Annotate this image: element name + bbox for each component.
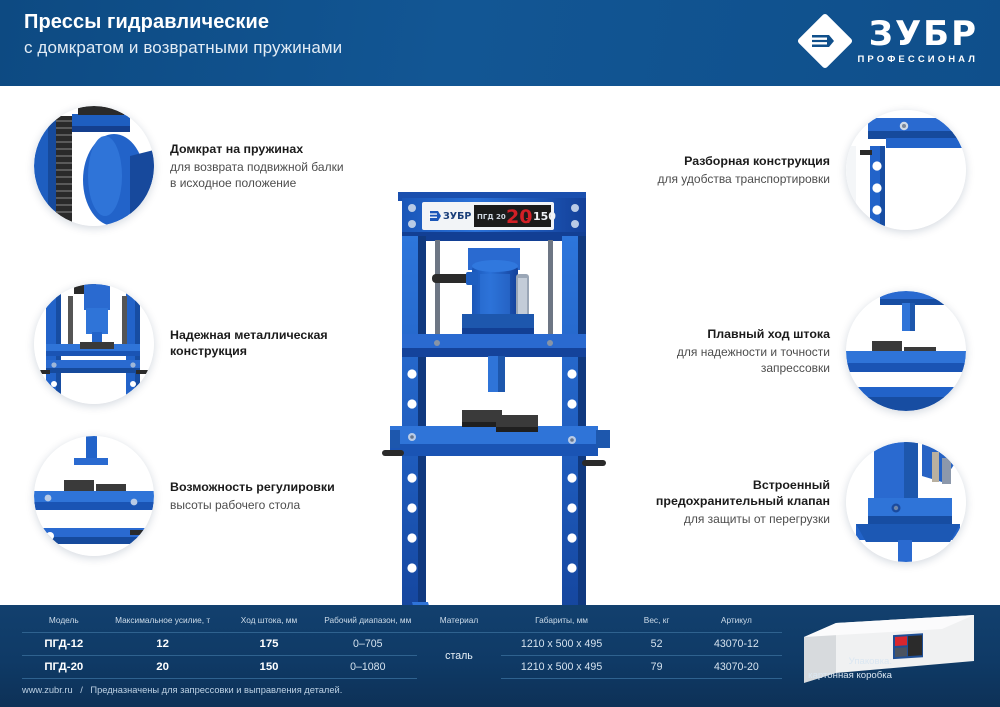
cell-article: 43070-20 [691,656,782,679]
feature-safety-valve: Встроенный предохранительный клапан для … [631,442,966,562]
cell-model: ПГД-12 [22,633,106,656]
smooth-rod-photo [846,291,966,411]
svg-text:т: т [526,216,532,226]
feature-title: Возможность регулировки [170,479,335,495]
zubr-diamond-icon [802,18,848,64]
feature-desc: для возврата подвижной балки в исходное … [170,159,353,192]
feature-jack-springs: Домкрат на пружинах для возврата подвижн… [34,106,369,226]
feature-desc: для защиты от перегрузки [647,511,830,527]
spec-table: Модель Максимальное усилие, т Ход штока,… [22,613,782,679]
cell-dimensions: 1210 x 500 x 495 [501,633,623,656]
infographic-page: Прессы гидравлические с домкратом и возв… [0,0,1000,707]
cell-model: ПГД-20 [22,656,106,679]
feature-title: Разборная конструкция [657,153,830,169]
feature-metal-frame: Надежная металлическая конструкция [34,284,369,404]
packaging-label: Упаковка: картонная коробка [808,655,892,682]
page-title: Прессы гидравлические [24,11,269,34]
cell-force: 12 [106,633,220,656]
packaging-label-line2: картонная коробка [808,669,892,683]
table-height-photo [34,436,154,556]
footer-note: www.zubr.ru / Предназначены для запрессо… [22,685,342,695]
table-header-row: Модель Максимальное усилие, т Ход штока,… [22,613,782,633]
feature-title: Домкрат на пружинах [170,141,353,157]
feature-title: Плавный ход штока [647,326,830,342]
cell-stroke: 150 [220,656,319,679]
feature-table-height: Возможность регулировки высоты рабочего … [34,436,351,556]
feature-title: Надежная металлическая конструкция [170,327,353,359]
feature-demountable: Разборная конструкция для удобства транс… [641,110,966,230]
feature-desc: высоты рабочего стола [170,497,335,513]
packaging-label-line1: Упаковка: [808,655,892,669]
cell-material: сталь [417,633,501,679]
table-row: ПГД-12 12 175 0–705 сталь 1210 x 500 x 4… [22,633,782,656]
col-dimensions: Габариты, мм [501,613,623,633]
brand-logo: ЗУБР ПРОФЕССИОНАЛ [802,17,978,65]
col-range: Рабочий диапазон, мм [318,613,417,633]
spec-footer: Модель Максимальное усилие, т Ход штока,… [0,605,1000,707]
page-header: Прессы гидравлические с домкратом и возв… [0,0,1000,86]
footer-description: Предназначены для запрессовки и выправле… [90,685,342,695]
footer-separator: / [80,685,83,695]
cell-range: 0–705 [318,633,417,656]
col-stroke: Ход штока, мм [220,613,319,633]
cell-article: 43070-12 [691,633,782,656]
cell-range: 0–1080 [318,656,417,679]
brand-tagline: ПРОФЕССИОНАЛ [857,54,978,65]
cell-stroke: 175 [220,633,319,656]
product-image: ЗУБР ПГД 20 20 т 150 [350,178,650,668]
cell-weight: 79 [622,656,690,679]
jack-springs-photo [34,106,154,226]
table-row: ПГД-20 20 150 0–1080 1210 x 500 x 495 79… [22,656,782,679]
svg-text:ПГД 20: ПГД 20 [477,213,506,221]
page-subtitle: с домкратом и возвратными пружинами [24,38,342,58]
svg-text:150: 150 [533,210,556,223]
col-material: Материал [417,613,501,633]
demountable-photo [846,110,966,230]
svg-text:ЗУБР: ЗУБР [443,211,471,222]
metal-frame-photo [34,284,154,404]
safety-valve-photo [846,442,966,562]
col-weight: Вес, кг [622,613,690,633]
cell-dimensions: 1210 x 500 x 495 [501,656,623,679]
col-article: Артикул [691,613,782,633]
website-link[interactable]: www.zubr.ru [22,685,73,695]
feature-smooth-rod: Плавный ход штока для надежности и точно… [631,291,966,411]
cell-force: 20 [106,656,220,679]
feature-desc: для надежности и точности запрессовки [647,344,830,377]
cell-weight: 52 [622,633,690,656]
brand-name: ЗУБР [869,17,978,51]
col-force: Максимальное усилие, т [106,613,220,633]
col-model: Модель [22,613,106,633]
feature-desc: для удобства транспортировки [657,171,830,187]
features-area: Домкрат на пружинах для возврата подвижн… [0,86,1000,605]
feature-title: Встроенный предохранительный клапан [647,477,830,509]
